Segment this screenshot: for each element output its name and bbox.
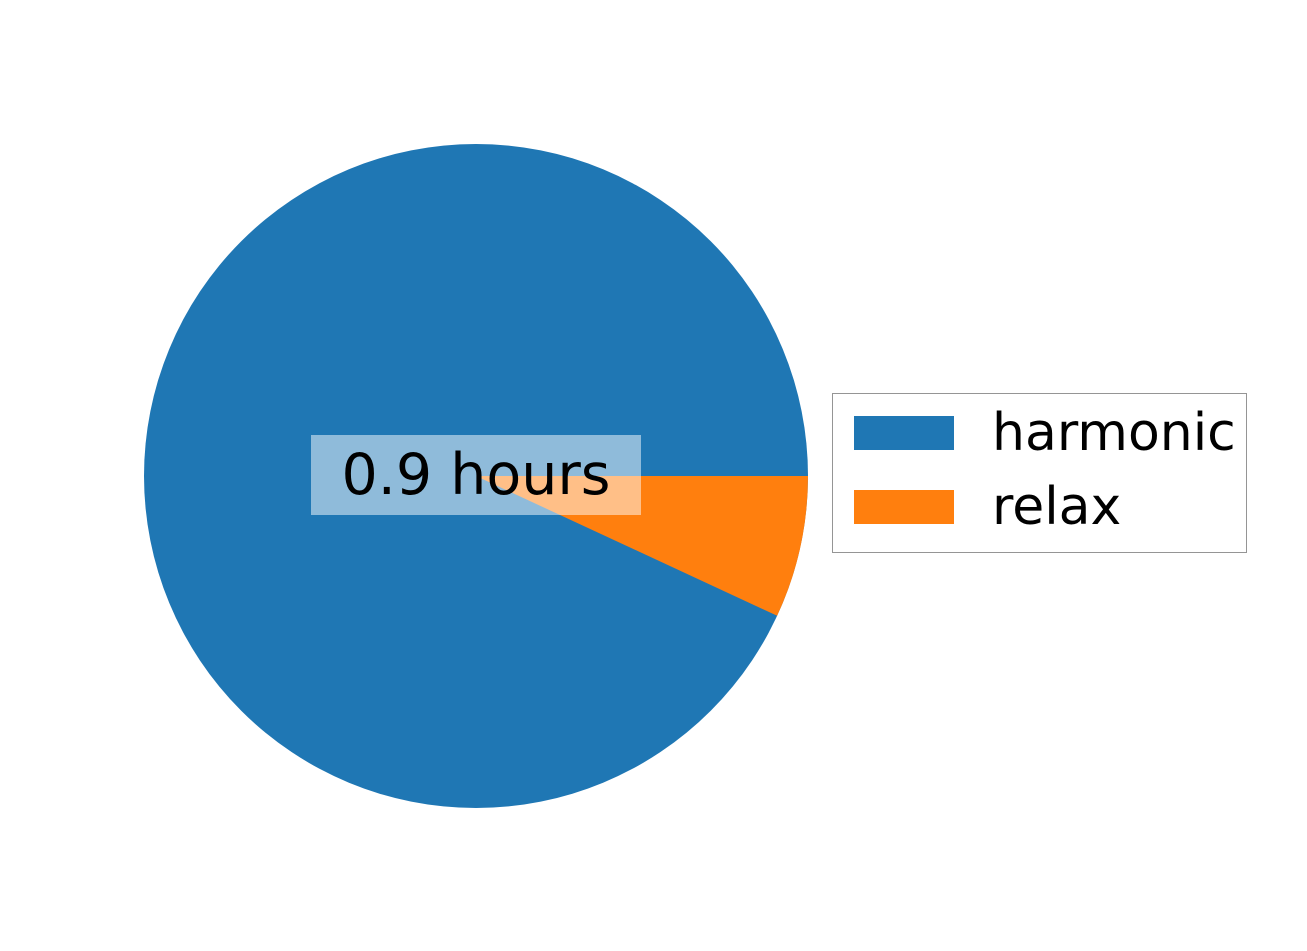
chart-legend: harmonic relax — [832, 393, 1247, 553]
legend-item-harmonic[interactable]: harmonic — [854, 407, 1236, 459]
legend-label-harmonic: harmonic — [992, 407, 1236, 459]
legend-swatch-relax-icon — [854, 490, 954, 524]
legend-label-relax: relax — [992, 481, 1121, 533]
pie-chart-figure: 0.9 hours harmonic relax — [0, 0, 1307, 951]
legend-swatch-harmonic-icon — [854, 416, 954, 450]
legend-item-relax[interactable]: relax — [854, 481, 1121, 533]
